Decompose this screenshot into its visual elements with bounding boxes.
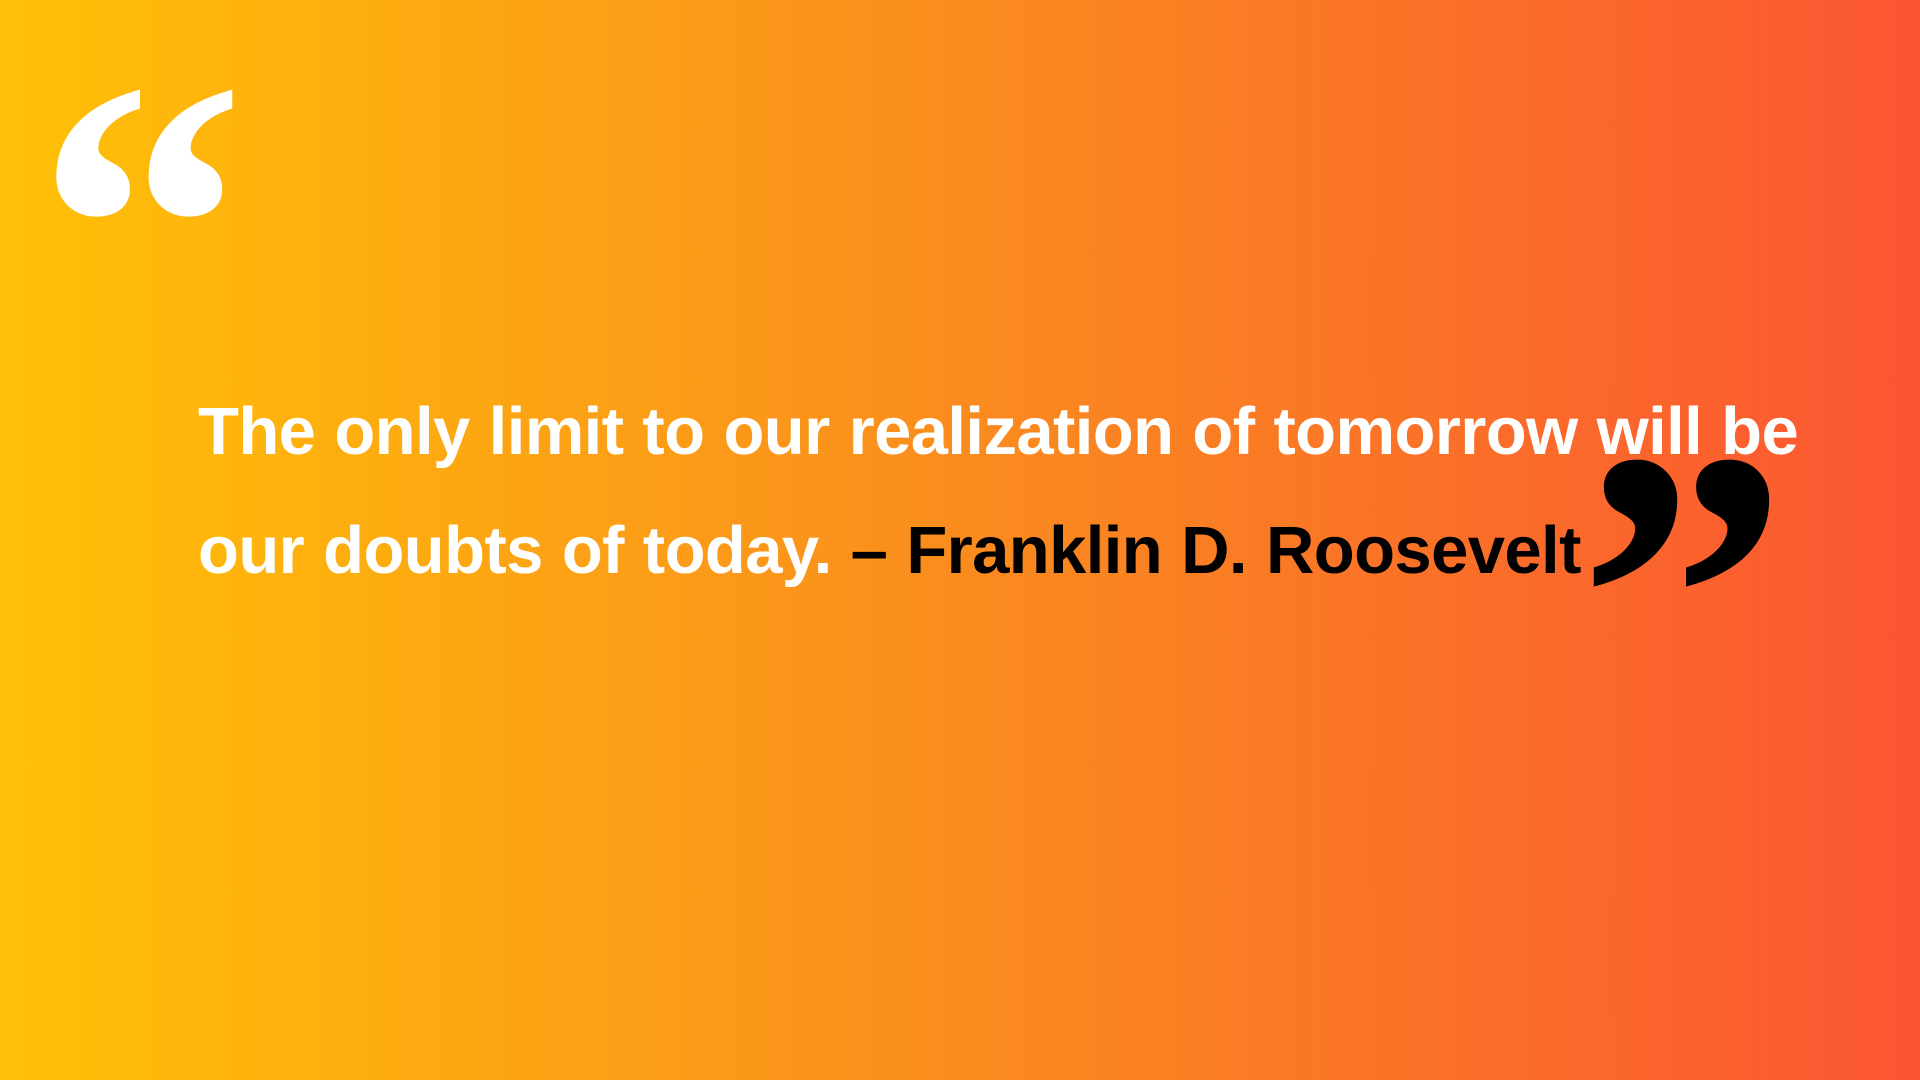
quote-block: The only limit to our realization of tom… xyxy=(198,372,1808,611)
attribution-dash: – xyxy=(851,513,888,588)
close-quote-icon: ” xyxy=(1578,388,1788,808)
quote-author: Franklin D. Roosevelt xyxy=(906,513,1580,588)
quote-card: “ The only limit to our realization of t… xyxy=(0,0,1920,1080)
quote-text: The only limit to our realization of tom… xyxy=(198,372,1808,611)
